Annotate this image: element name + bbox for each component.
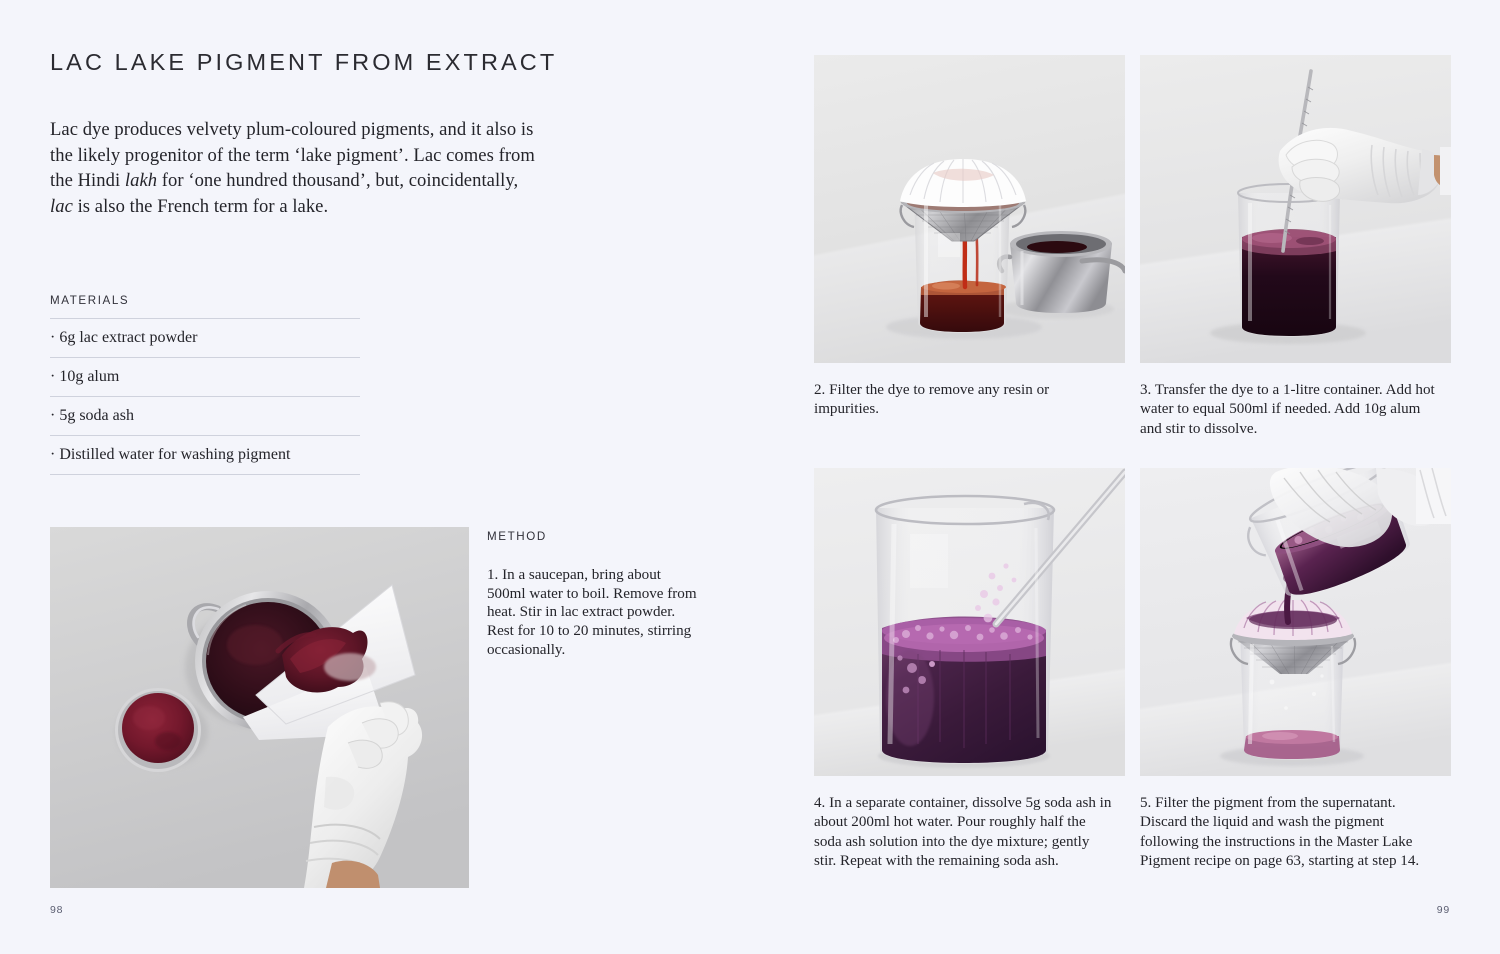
step-2-cell: 2. Filter the dye to remove any resin or…	[814, 55, 1125, 420]
materials-section: MATERIALS · 6g lac extract powder · 10g …	[50, 294, 360, 475]
step-2-caption: 2. Filter the dye to remove any resin or…	[814, 381, 1114, 420]
photo-lac-powder	[50, 527, 469, 888]
photo-step-4	[814, 468, 1125, 776]
list-item: · 10g alum	[50, 357, 360, 396]
book-spread: LAC LAKE PIGMENT FROM EXTRACT Lac dye pr…	[0, 0, 1500, 954]
step-5-caption: 5. Filter the pigment from the supernata…	[1140, 794, 1440, 872]
list-item: · Distilled water for washing pigment	[50, 435, 360, 475]
photo-step-2-graphic	[814, 55, 1125, 363]
list-item: · 5g soda ash	[50, 396, 360, 435]
step-5-cell: 5. Filter the pigment from the supernata…	[1140, 468, 1451, 872]
photo-step-4-graphic	[814, 468, 1125, 776]
materials-list: · 6g lac extract powder · 10g alum · 5g …	[50, 318, 360, 475]
materials-heading: MATERIALS	[50, 294, 360, 318]
step-4-cell: 4. In a separate container, dissolve 5g …	[814, 468, 1125, 872]
photo-step-5	[1140, 468, 1451, 776]
method-section: METHOD 1. In a saucepan, bring about 500…	[487, 530, 702, 660]
method-heading: METHOD	[487, 530, 702, 543]
photo-step-2	[814, 55, 1125, 363]
step-4-caption: 4. In a separate container, dissolve 5g …	[814, 794, 1114, 872]
method-step-1: 1. In a saucepan, bring about 500ml wate…	[487, 566, 702, 660]
step-3-cell: 3. Transfer the dye to a 1-litre contain…	[1140, 55, 1451, 439]
photo-step-5-graphic	[1140, 468, 1451, 776]
photo-step-3	[1140, 55, 1451, 363]
list-item: · 6g lac extract powder	[50, 318, 360, 357]
step-3-caption: 3. Transfer the dye to a 1-litre contain…	[1140, 381, 1440, 439]
photo-lac-powder-graphic	[50, 527, 469, 888]
right-page: 2. Filter the dye to remove any resin or…	[750, 0, 1500, 954]
folio-right: 99	[1437, 904, 1450, 916]
left-page: LAC LAKE PIGMENT FROM EXTRACT Lac dye pr…	[0, 0, 750, 954]
photo-step-3-graphic	[1140, 55, 1451, 363]
page-title: LAC LAKE PIGMENT FROM EXTRACT	[50, 49, 557, 76]
folio-left: 98	[50, 904, 63, 916]
intro-paragraph: Lac dye produces velvety plum-coloured p…	[50, 117, 540, 219]
